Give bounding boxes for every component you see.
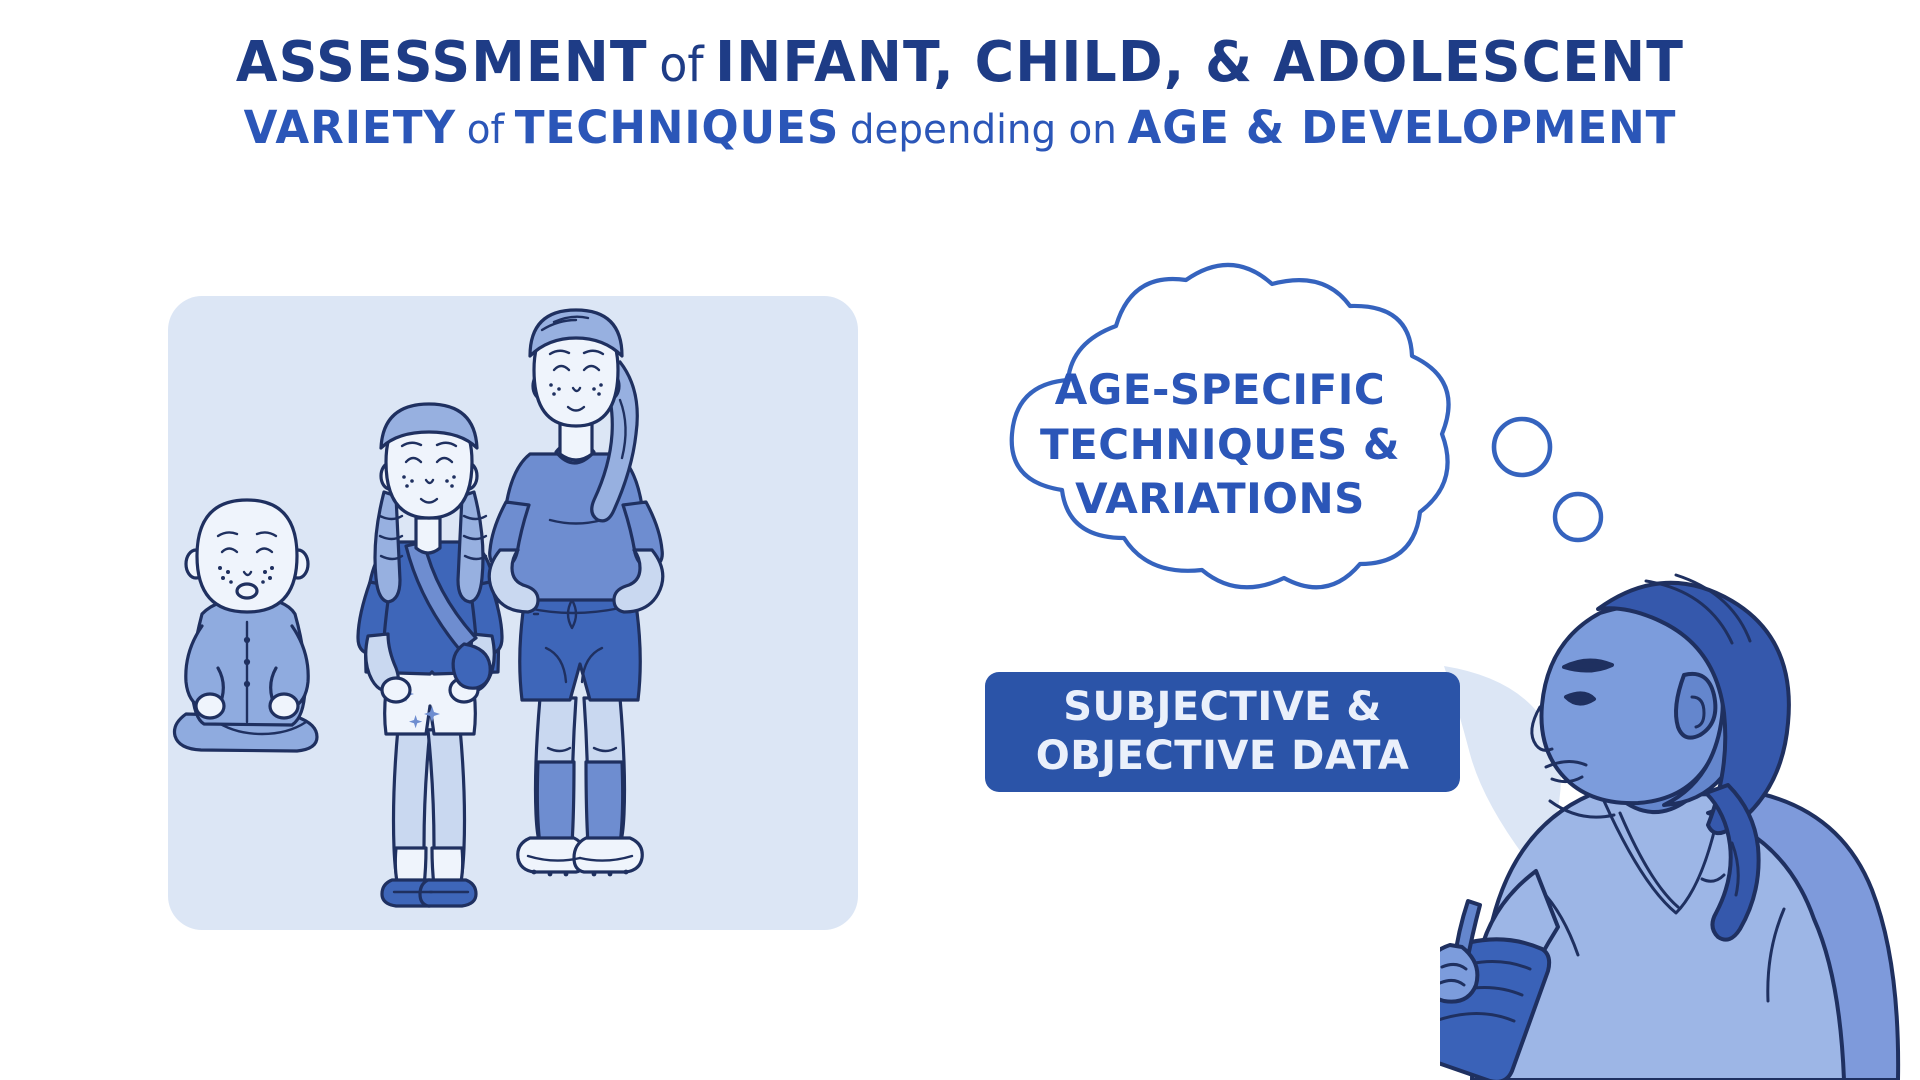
subtitle-word-techniques: TECHNIQUES	[515, 101, 839, 154]
callout-line-1: SUBJECTIVE &	[1036, 683, 1410, 732]
thought-bubble-dots	[1480, 400, 1670, 570]
title-word-infant-child-adolescent: INFANT, CHILD, & ADOLESCENT	[715, 30, 1684, 95]
figure-nurse-clinician: .nol{stroke:#1F3060;stroke-width:4;strok…	[1440, 555, 1920, 1080]
thought-bubble-cloud	[940, 230, 1460, 650]
illustration-canvas: ASSESSMENTofINFANT, CHILD, & ADOLESCENT …	[0, 0, 1920, 1080]
page-title: ASSESSMENTofINFANT, CHILD, & ADOLESCENT	[38, 34, 1881, 91]
cloud-shape	[1012, 265, 1449, 587]
subtitle-word-of: of	[467, 107, 504, 153]
subtitle-word-depending-on: depending on	[850, 107, 1117, 153]
thought-dot-large	[1494, 419, 1550, 475]
children-figures-group: .ol{stroke:#1F3060;stroke-width:3.2;stro…	[168, 296, 858, 930]
title-word-assessment: ASSESSMENT	[236, 30, 648, 95]
subtitle-word-variety: VARIETY	[244, 101, 456, 154]
callout-box-subjective-objective: SUBJECTIVE & OBJECTIVE DATA	[985, 672, 1460, 792]
callout-line-2: OBJECTIVE DATA	[1036, 732, 1410, 781]
figure-child	[358, 404, 502, 906]
thought-dot-small	[1555, 494, 1601, 540]
figure-infant	[174, 500, 317, 751]
callout-text: SUBJECTIVE & OBJECTIVE DATA	[1036, 683, 1410, 781]
title-word-of: of	[659, 37, 703, 93]
subtitle-word-age-development: AGE & DEVELOPMENT	[1127, 101, 1676, 154]
page-title-block: ASSESSMENTofINFANT, CHILD, & ADOLESCENT …	[0, 34, 1920, 151]
figure-adolescent	[489, 310, 663, 876]
page-subtitle: VARIETYofTECHNIQUESdepending onAGE & DEV…	[29, 105, 1891, 151]
